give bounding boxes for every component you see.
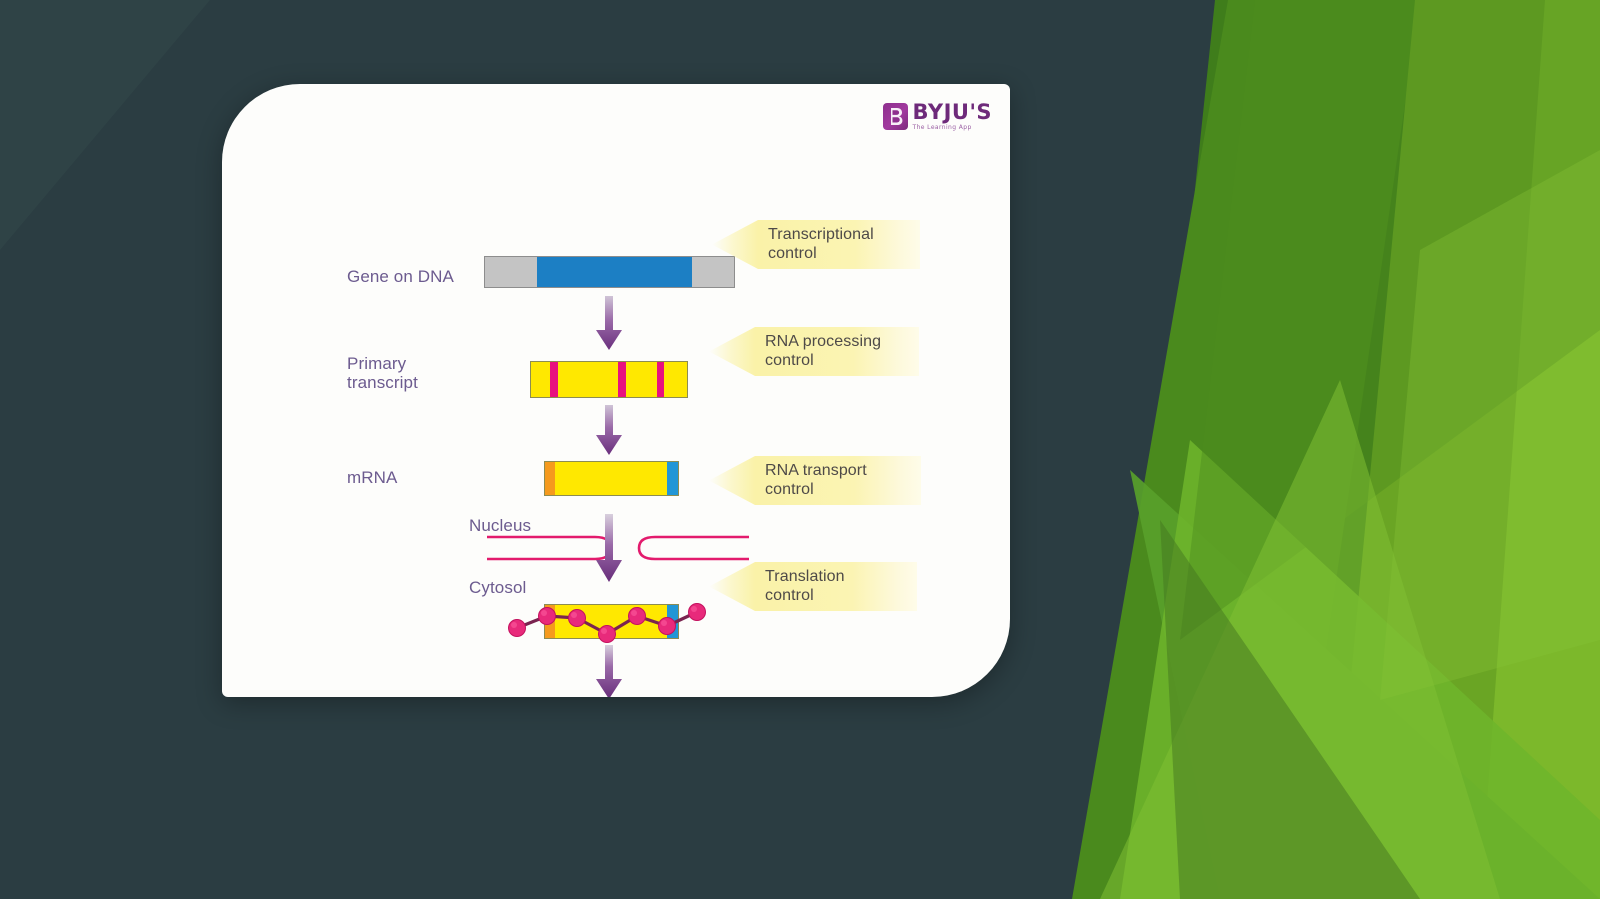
callout-pointer-icon <box>709 456 755 505</box>
upstream-flank-segment <box>485 257 537 287</box>
translation-arrow-icon <box>592 645 626 697</box>
gene-on-dna-bar <box>484 256 735 288</box>
amino-acid-bead <box>599 626 616 643</box>
slide-canvas: BYJU'S The Learning App Gene on DNA Prim… <box>0 0 1600 899</box>
callout-label: RNA processing control <box>765 333 881 369</box>
amino-acid-bead <box>689 604 706 621</box>
callout-pointer-icon <box>709 327 755 376</box>
label-primary-transcript: Primary transcript <box>347 354 418 392</box>
callout-rna-transport-control: RNA transport control <box>709 456 921 505</box>
transcription-arrow-icon <box>592 296 626 352</box>
amino-acid-bead <box>629 608 646 625</box>
intron-2-segment <box>618 362 626 397</box>
intron-1-segment <box>550 362 559 397</box>
protein-polypeptide-chain <box>507 596 717 644</box>
exon-2-segment <box>558 362 618 397</box>
content-card: BYJU'S The Learning App Gene on DNA Prim… <box>222 84 1010 697</box>
exon-1-segment <box>531 362 550 397</box>
amino-acid-bead <box>659 618 676 635</box>
amino-acid-bead <box>539 608 556 625</box>
label-gene-on-dna: Gene on DNA <box>347 267 454 286</box>
amino-acid-bead <box>569 610 586 627</box>
gene-expression-diagram: Gene on DNA Primary transcript mRNA Nucl… <box>222 84 1010 697</box>
label-mrna: mRNA <box>347 468 397 487</box>
rna-transport-arrow-icon <box>592 514 626 584</box>
callout-translation-control: Translation control <box>709 562 917 611</box>
callout-pointer-icon <box>712 220 758 269</box>
label-protein: Protein <box>347 696 402 697</box>
callout-label: Translation control <box>765 568 845 604</box>
callout-rna-processing-control: RNA processing control <box>709 327 919 376</box>
rna-processing-arrow-icon <box>592 405 626 457</box>
callout-label: Transcriptional control <box>768 226 874 262</box>
intron-3-segment <box>657 362 664 397</box>
callout-transcriptional-control: Transcriptional control <box>712 220 920 269</box>
gene-body-segment <box>537 257 691 287</box>
amino-acid-bead <box>509 620 526 637</box>
exon-3-segment <box>626 362 657 397</box>
primary-transcript-bar <box>530 361 688 398</box>
callout-label: RNA transport control <box>765 462 867 498</box>
exon-4-segment <box>664 362 687 397</box>
callout-pointer-icon <box>709 562 755 611</box>
